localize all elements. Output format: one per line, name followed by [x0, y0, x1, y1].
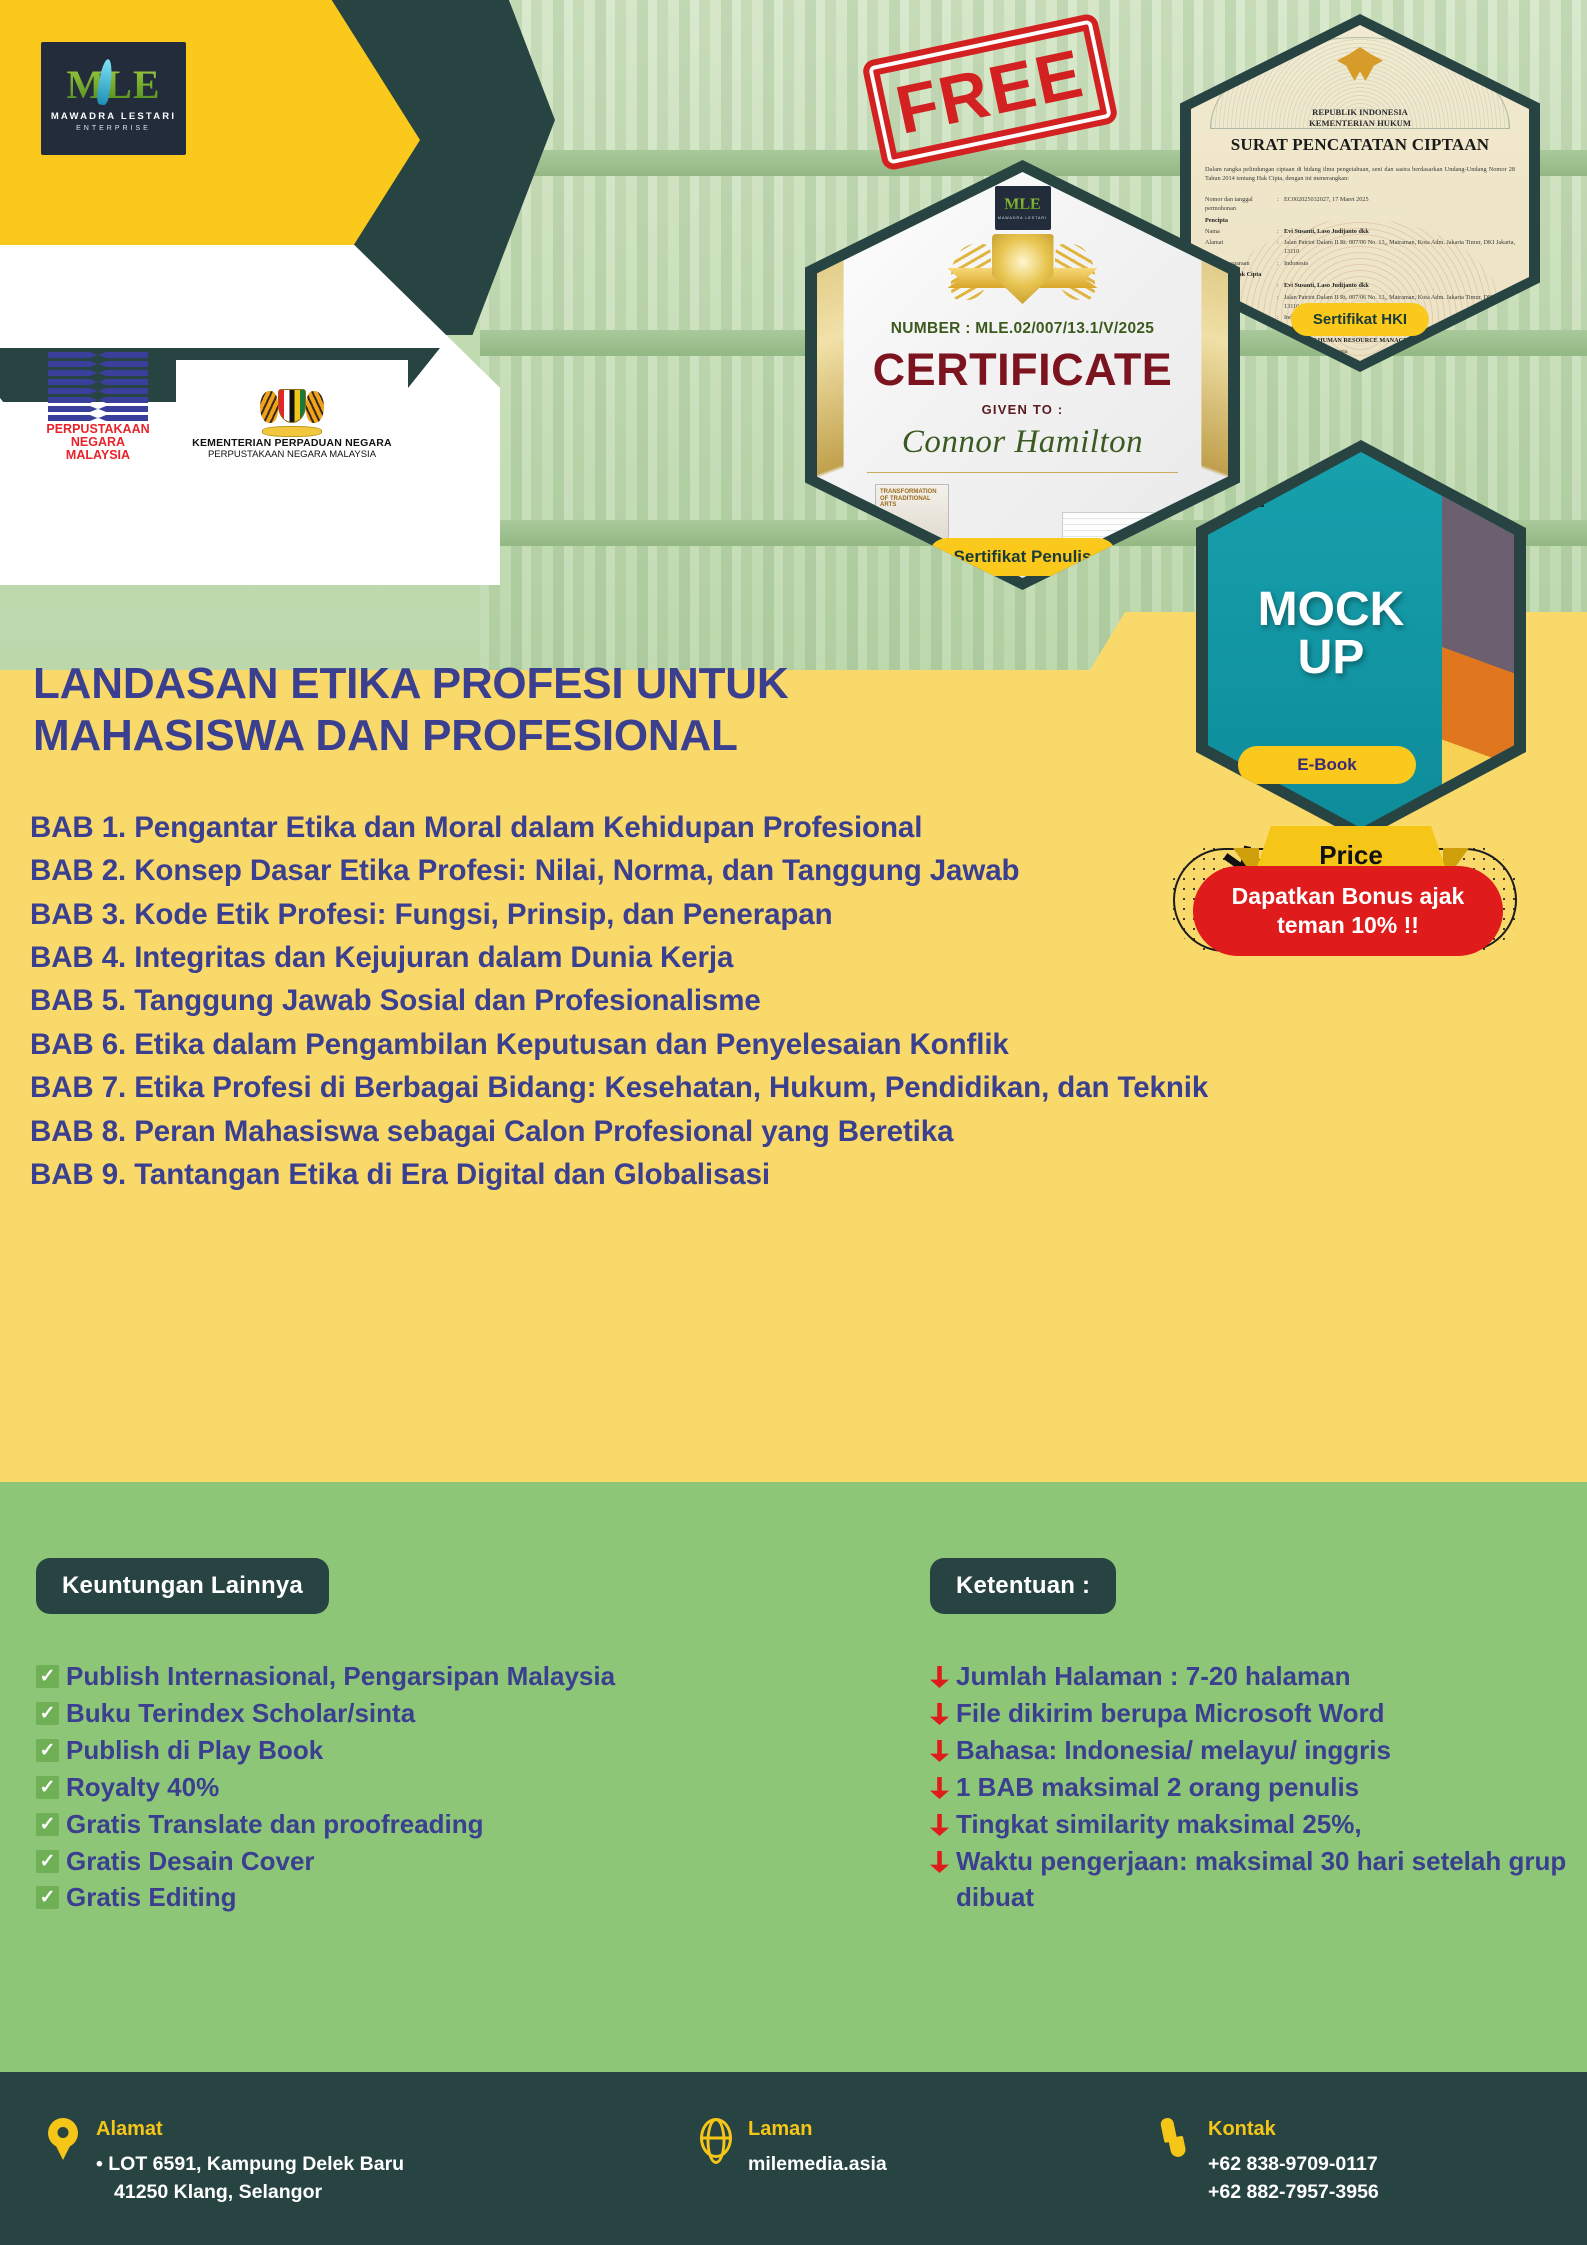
pin-bullet-icon — [930, 1740, 949, 1762]
hki-field-value: EC002025032027, 17 Maret 2025 — [1284, 195, 1519, 214]
footer-address-lines: • LOT 6591, Kampung Delek Baru 41250 Kla… — [96, 2150, 404, 2207]
hki-field-row: Nama:Evi Susanti, Laso Judijanto dkk — [1205, 281, 1519, 290]
benefits-heading: Keuntungan Lainnya — [36, 1558, 329, 1614]
footer-contact-title: Kontak — [1208, 2118, 1379, 2141]
footer-web-block: Laman milemedia.asia — [700, 2118, 887, 2178]
certificate-number: NUMBER : MLE.02/007/13.1/V/2025 — [817, 320, 1228, 338]
hki-field-value: Indonesia — [1284, 259, 1519, 268]
shield-icon — [992, 234, 1054, 304]
hki-field-row: Pencipta — [1205, 216, 1519, 225]
hki-paragraph: Dalam rangka pelindungan ciptaan di bida… — [1205, 165, 1515, 183]
check-icon: ✓ — [36, 1886, 59, 1909]
pnm-label-line2: NEGARA MALAYSIA — [38, 436, 158, 462]
pnm-label: PERPUSTAKAAN NEGARA MALAYSIA — [38, 423, 158, 462]
benefit-item: ✓Buku Terindex Scholar/sinta — [36, 1695, 726, 1732]
certificate-recipient-name: Connor Hamilton — [817, 424, 1228, 461]
term-label: 1 BAB maksimal 2 orang penulis — [956, 1769, 1359, 1806]
kementerian-label-line2: PERPUSTAKAAN NEGARA MALAYSIA — [208, 449, 376, 460]
certificate-logo-mark: MLE — [1004, 196, 1040, 214]
badge-ebook[interactable]: E-Book — [1238, 746, 1416, 784]
hki-title: SURAT PENCATATAN CIPTAAN — [1191, 135, 1529, 155]
benefit-item: ✓Gratis Translate dan proofreading — [36, 1806, 726, 1843]
hki-field-colon — [1277, 270, 1284, 279]
page-title-line2: MAHASISWA DAN PROFESIONAL — [33, 710, 1113, 762]
term-label: Tingkat similarity maksimal 25%, — [956, 1806, 1362, 1843]
check-icon: ✓ — [36, 1702, 59, 1725]
benefit-item: ✓Royalty 40% — [36, 1769, 726, 1806]
footer-address-block: Alamat • LOT 6591, Kampung Delek Baru 41… — [48, 2118, 404, 2207]
hki-republic-lines: REPUBLIK INDONESIA KEMENTERIAN HUKUM — [1191, 107, 1529, 128]
poster-root: MLE MAWADRA LESTARI ENTERPRISE PERPUSTAK… — [0, 0, 1587, 2245]
badge-sertifikat-hki[interactable]: Sertifikat HKI — [1291, 303, 1429, 336]
terms-column: Ketentuan : Jumlah Halaman : 7-20 halama… — [930, 1558, 1570, 1916]
pnm-stack-icon — [48, 352, 148, 421]
pin-bullet-icon — [930, 1851, 949, 1873]
kementerian-logo: KEMENTERIAN PERPADUAN NEGARA PERPUSTAKAA… — [176, 360, 408, 460]
brand-logo: MLE MAWADRA LESTARI ENTERPRISE — [41, 42, 186, 155]
certificate-given-to-label: GIVEN TO : — [817, 402, 1228, 417]
brand-logo-mark: MLE — [66, 65, 160, 105]
term-item: Waktu pengerjaan: maksimal 30 hari setel… — [930, 1843, 1570, 1917]
hki-field-label: Nama — [1205, 227, 1277, 236]
certificate-divider — [867, 472, 1178, 473]
benefit-label: Gratis Translate dan proofreading — [66, 1806, 484, 1843]
check-icon: ✓ — [36, 1665, 59, 1688]
footer-address-line1: LOT 6591, Kampung Delek Baru — [108, 2153, 404, 2175]
pin-bullet-icon — [930, 1814, 949, 1836]
terms-heading: Ketentuan : — [930, 1558, 1116, 1614]
benefit-label: Gratis Editing — [66, 1879, 236, 1916]
pin-bullet-icon — [930, 1666, 949, 1688]
footer-contact-block: Kontak +62 838-9709-0117 +62 882-7957-39… — [1160, 2118, 1379, 2207]
page-title-line1: LANDASAN ETIKA PROFESI UNTUK — [33, 658, 1113, 710]
page-title: LANDASAN ETIKA PROFESI UNTUK MAHASISWA D… — [33, 658, 1113, 762]
benefit-label: Buku Terindex Scholar/sinta — [66, 1695, 415, 1732]
benefit-label: Publish di Play Book — [66, 1732, 323, 1769]
hki-field-label: Pencipta — [1205, 216, 1277, 225]
hki-field-label: Nomor dan tanggal permohonan — [1205, 195, 1277, 214]
jata-negara-icon — [260, 385, 324, 437]
hki-field-value: Evi Susanti, Laso Judijanto dkk — [1284, 281, 1519, 290]
benefit-label: Publish Internasional, Pengarsipan Malay… — [66, 1658, 615, 1695]
term-item: Jumlah Halaman : 7-20 halaman — [930, 1658, 1570, 1695]
pnm-label-line1: PERPUSTAKAAN — [38, 423, 158, 436]
hki-field-row: Nomor dan tanggal permohonan:EC002025032… — [1205, 195, 1519, 214]
hki-field-colon — [1277, 216, 1284, 225]
hki-field-row: Alamat:Jalan Patriot Dalam II Rt. 007/06… — [1205, 238, 1519, 257]
chapter-item: BAB 6. Etika dalam Pengambilan Keputusan… — [30, 1023, 1450, 1066]
footer-bar: Alamat • LOT 6591, Kampung Delek Baru 41… — [0, 2072, 1587, 2245]
location-pin-icon — [48, 2118, 82, 2162]
brand-logo-text: MLE — [66, 62, 160, 107]
hki-field-colon: : — [1277, 195, 1284, 214]
hki-field-row: Nama:Evi Susanti, Laso Judijanto dkk — [1205, 227, 1519, 236]
footer-address-title: Alamat — [96, 2118, 404, 2141]
bonus-pill: Dapatkan Bonus ajak teman 10% !! — [1193, 866, 1503, 956]
check-icon: ✓ — [36, 1776, 59, 1799]
benefit-item: ✓Publish Internasional, Pengarsipan Mala… — [36, 1658, 726, 1695]
footer-phone-1[interactable]: +62 838-9709-0117 — [1208, 2150, 1379, 2178]
hki-field-colon: : — [1277, 293, 1284, 312]
term-label: Bahasa: Indonesia/ melayu/ inggris — [956, 1732, 1391, 1769]
chapter-item: BAB 7. Etika Profesi di Berbagai Bidang:… — [30, 1066, 1450, 1109]
kementerian-label-line1: KEMENTERIAN PERPADUAN NEGARA — [192, 437, 392, 449]
term-label: Jumlah Halaman : 7-20 halaman — [956, 1658, 1350, 1695]
mockup-title-line2: UP — [1208, 634, 1454, 682]
chapter-item: BAB 9. Tantangan Etika di Era Digital da… — [30, 1153, 1450, 1196]
term-item: File dikirim berupa Microsoft Word — [930, 1695, 1570, 1732]
pnm-logo: PERPUSTAKAAN NEGARA MALAYSIA — [38, 352, 158, 462]
certificate-brand-logo: MLE MAWADRA LESTARI — [995, 186, 1051, 230]
bonus-line1: Dapatkan Bonus ajak — [1232, 882, 1465, 911]
check-icon: ✓ — [36, 1850, 59, 1873]
footer-contact-phones: +62 838-9709-0117 +62 882-7957-3956 — [1208, 2150, 1379, 2207]
chapter-item: BAB 8. Peran Mahasiswa sebagai Calon Pro… — [30, 1110, 1450, 1153]
check-icon: ✓ — [36, 1739, 59, 1762]
hki-field-label: Alamat — [1205, 238, 1277, 257]
term-label: File dikirim berupa Microsoft Word — [956, 1695, 1385, 1732]
benefit-item: ✓Publish di Play Book — [36, 1732, 726, 1769]
hki-field-value — [1284, 270, 1519, 279]
phone-icon — [1160, 2118, 1194, 2162]
benefits-column: Keuntungan Lainnya ✓Publish Internasiona… — [36, 1558, 726, 1916]
benefit-item: ✓Gratis Editing — [36, 1879, 726, 1916]
hki-field-value — [1284, 216, 1519, 225]
check-icon: ✓ — [36, 1813, 59, 1836]
hki-field-colon: : — [1277, 313, 1284, 322]
hki-field-value: Evi Susanti, Laso Judijanto dkk — [1284, 227, 1519, 236]
hki-field-row: Pemegang Hak Cipta — [1205, 270, 1519, 279]
footer-web-value[interactable]: milemedia.asia — [748, 2150, 887, 2178]
certificate-book-title: TRANSFORMATION OF TRADITIONAL ARTS — [880, 489, 944, 509]
term-item: 1 BAB maksimal 2 orang penulis — [930, 1769, 1570, 1806]
author-certificate-image: MLE MAWADRA LESTARI NUMBER : MLE.02/007/… — [817, 172, 1228, 578]
benefit-label: Royalty 40% — [66, 1769, 219, 1806]
mockup-title-line1: MOCK — [1208, 586, 1454, 634]
bonus-line2: teman 10% !! — [1277, 911, 1419, 940]
hki-field-colon: : — [1277, 227, 1284, 236]
pin-bullet-icon — [930, 1777, 949, 1799]
hki-field-row: Kewarganegaraan:Indonesia — [1205, 259, 1519, 268]
hki-republic-line1: REPUBLIK INDONESIA — [1191, 107, 1529, 118]
term-label: Waktu pengerjaan: maksimal 30 hari setel… — [956, 1843, 1570, 1917]
hki-field-value: Jalan Patriot Dalam II Rt. 007/06 No. 13… — [1284, 238, 1519, 257]
mockup-title: MOCK UP — [1208, 586, 1454, 682]
benefits-list: ✓Publish Internasional, Pengarsipan Mala… — [36, 1658, 726, 1916]
footer-phone-2[interactable]: +62 882-7957-3956 — [1208, 2178, 1379, 2206]
terms-list: Jumlah Halaman : 7-20 halamanFile dikiri… — [930, 1658, 1570, 1916]
brand-logo-sub: ENTERPRISE — [76, 125, 151, 132]
hki-field-colon: : — [1277, 281, 1284, 290]
hki-republic-line2: KEMENTERIAN HUKUM — [1191, 118, 1529, 129]
free-stamp-label: FREE — [889, 34, 1090, 150]
footer-web-title: Laman — [748, 2118, 887, 2141]
benefit-item: ✓Gratis Desain Cover — [36, 1843, 726, 1880]
footer-address-line2: 41250 Klang, Selangor — [96, 2178, 404, 2206]
term-item: Bahasa: Indonesia/ melayu/ inggris — [930, 1732, 1570, 1769]
certificate-word: CERTIFICATE — [817, 344, 1228, 396]
brand-logo-name: MAWADRA LESTARI — [51, 111, 176, 122]
benefit-label: Gratis Desain Cover — [66, 1843, 315, 1880]
hki-field-colon: : — [1277, 259, 1284, 268]
chapter-item: BAB 5. Tanggung Jawab Sosial dan Profesi… — [30, 979, 1450, 1022]
pin-bullet-icon — [930, 1703, 949, 1725]
globe-icon — [700, 2118, 734, 2162]
price-callout: Price Dapatkan Bonus ajak teman 10% !! — [1155, 826, 1535, 961]
term-item: Tingkat similarity maksimal 25%, — [930, 1806, 1570, 1843]
hki-field-colon: : — [1277, 238, 1284, 257]
certificate-logo-sub: MAWADRA LESTARI — [998, 216, 1047, 220]
